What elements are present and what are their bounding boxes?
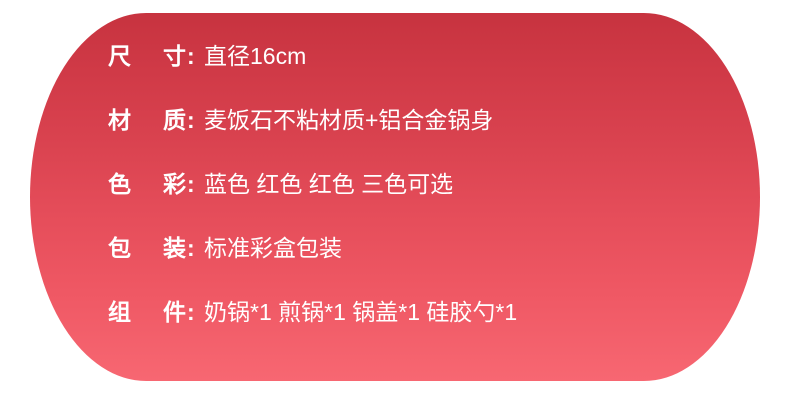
spec-label: 材 质 :	[108, 101, 204, 135]
spec-row: 尺 寸 : 直径16cm	[30, 37, 760, 101]
spec-row: 色 彩 : 蓝色 红色 红色 三色可选	[30, 165, 760, 229]
spec-label-char: 装	[163, 229, 186, 263]
spec-label: 组 件 :	[108, 293, 204, 327]
spec-label-colon: :	[187, 235, 195, 262]
spec-label: 色 彩 :	[108, 165, 204, 199]
spec-row: 组 件 : 奶锅*1 煎锅*1 锅盖*1 硅胶勺*1	[30, 293, 760, 357]
product-spec-banner: 尺 寸 : 直径16cm 材 质 : 麦饭石不粘材质+铝合金锅身	[0, 0, 790, 420]
spec-label-char: 尺	[108, 37, 131, 71]
spec-row: 包 装 : 标准彩盒包装	[30, 229, 760, 293]
spec-label: 包 装 :	[108, 229, 204, 263]
spec-value: 蓝色 红色 红色 三色可选	[204, 165, 760, 199]
spec-label-char: 组	[108, 293, 131, 327]
spec-label-char: 件	[163, 293, 186, 327]
spec-value: 标准彩盒包装	[204, 229, 760, 263]
spec-label-char: 彩	[163, 165, 186, 199]
spec-value: 奶锅*1 煎锅*1 锅盖*1 硅胶勺*1	[204, 293, 760, 327]
spec-label-colon: :	[187, 299, 195, 326]
spec-row: 材 质 : 麦饭石不粘材质+铝合金锅身	[30, 101, 760, 165]
spec-row-list: 尺 寸 : 直径16cm 材 质 : 麦饭石不粘材质+铝合金锅身	[30, 13, 760, 381]
spec-label: 尺 寸 :	[108, 37, 204, 71]
spec-label-colon: :	[187, 171, 195, 198]
spec-label-char: 包	[108, 229, 131, 263]
spec-label-colon: :	[187, 43, 195, 70]
spec-value: 麦饭石不粘材质+铝合金锅身	[204, 101, 760, 135]
spec-label-text: 材 质	[108, 101, 186, 135]
spec-label-char: 材	[108, 101, 131, 135]
spec-label-text: 尺 寸	[108, 37, 186, 71]
spec-label-colon: :	[187, 107, 195, 134]
spec-label-char: 色	[108, 165, 131, 199]
spec-panel: 尺 寸 : 直径16cm 材 质 : 麦饭石不粘材质+铝合金锅身	[30, 13, 760, 381]
spec-label-text: 包 装	[108, 229, 186, 263]
spec-label-char: 寸	[163, 37, 186, 71]
spec-label-text: 组 件	[108, 293, 186, 327]
spec-label-char: 质	[163, 101, 186, 135]
spec-value: 直径16cm	[204, 37, 760, 71]
spec-label-text: 色 彩	[108, 165, 186, 199]
